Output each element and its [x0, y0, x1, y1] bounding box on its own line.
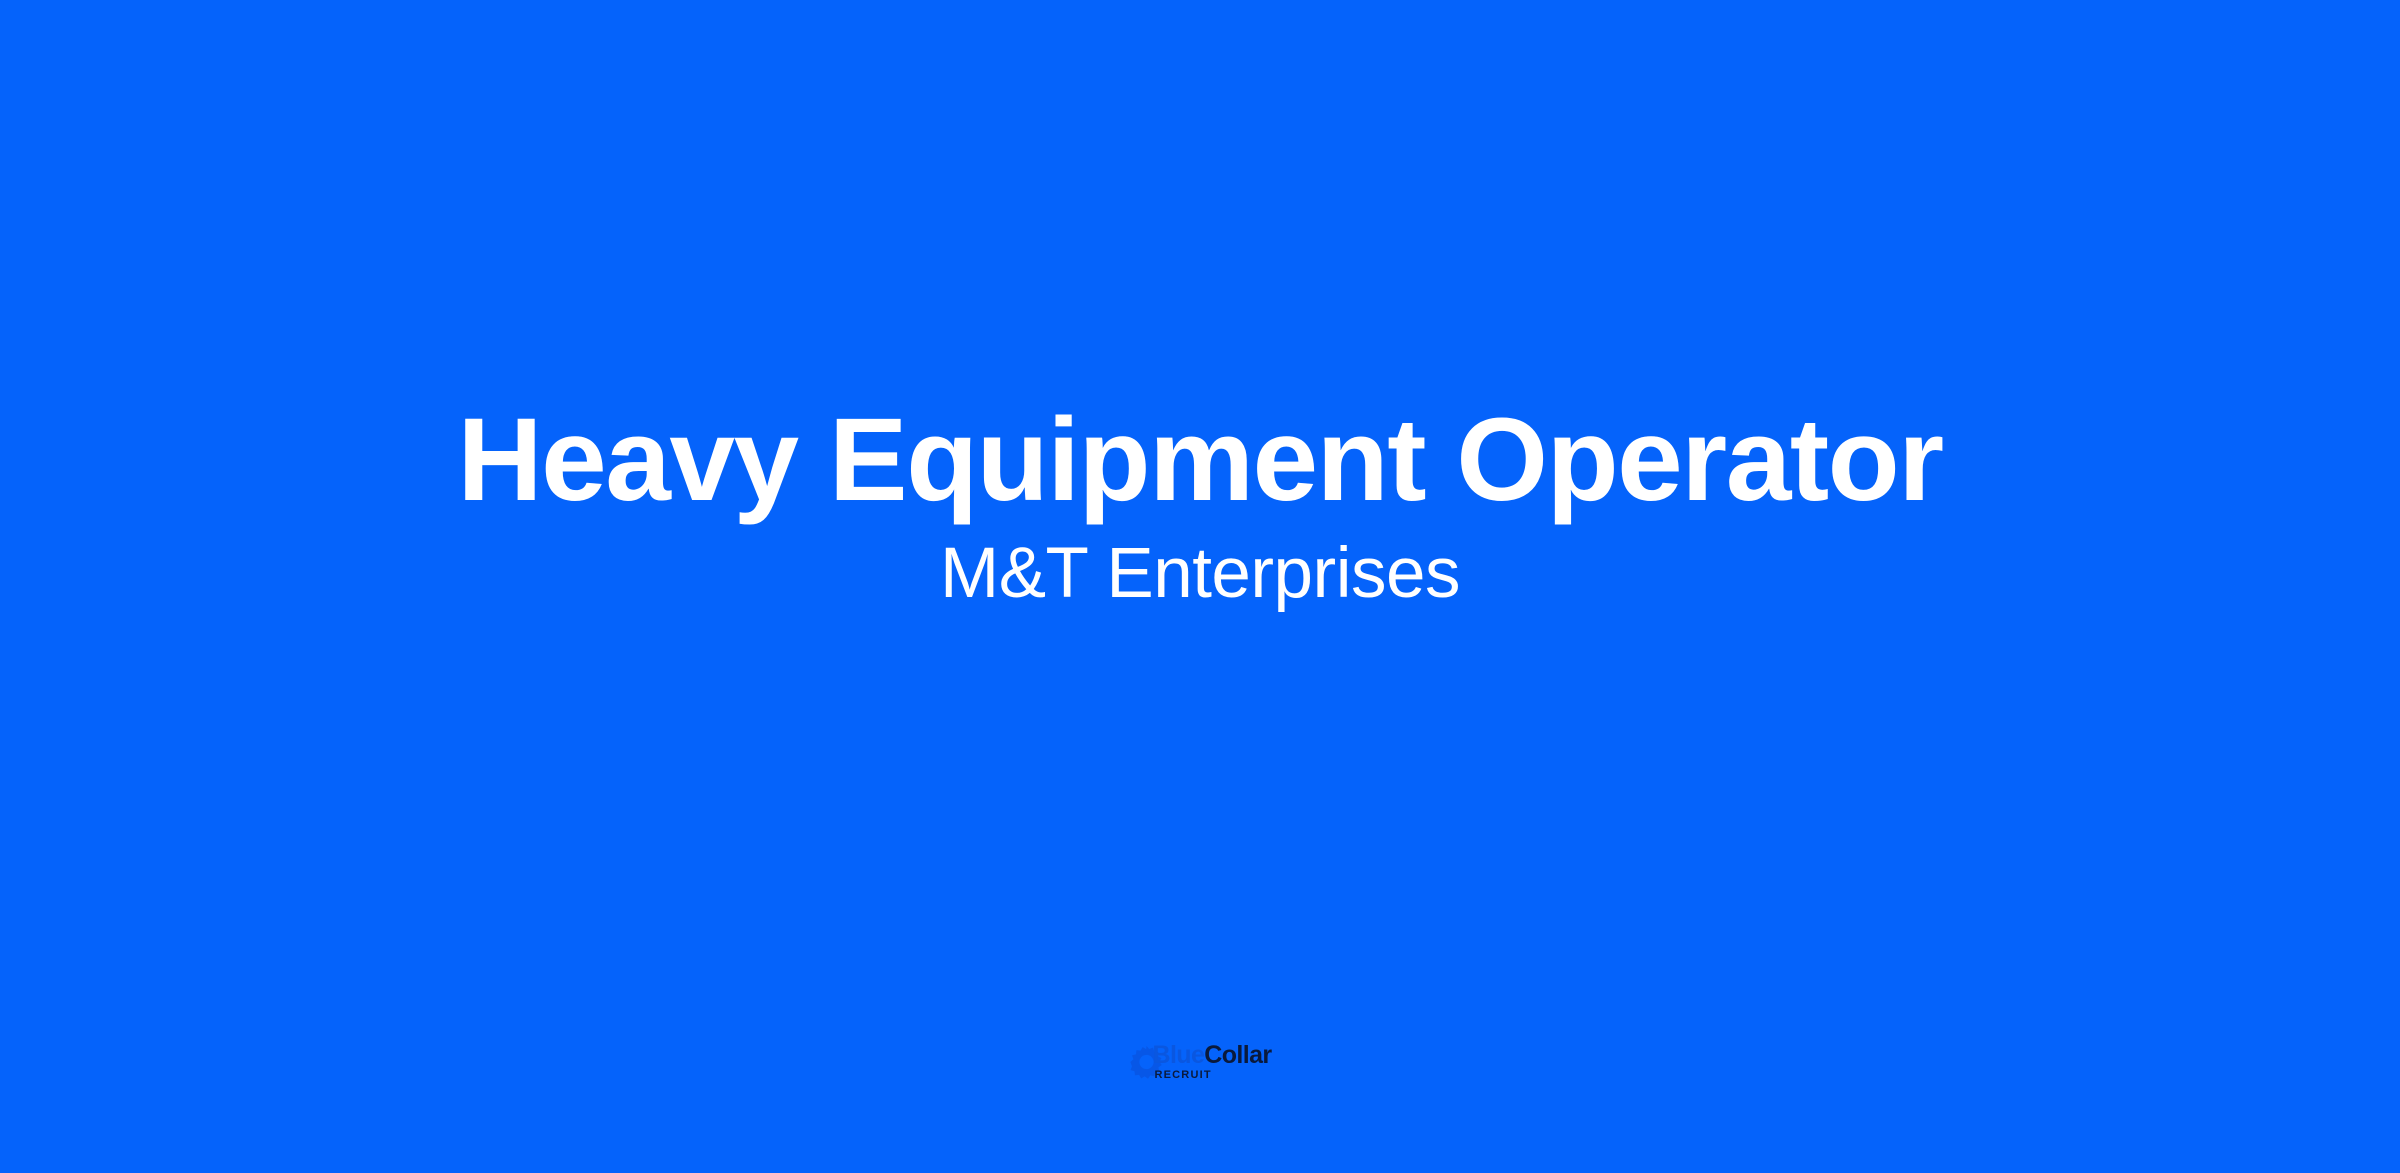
headline-block: Heavy Equipment Operator M&T Enterprises — [0, 0, 2400, 1173]
job-posting-slide: Heavy Equipment Operator M&T Enterprises… — [0, 0, 2400, 1173]
brand-wordmark: Blue Collar RECRUIT — [1152, 1043, 1271, 1081]
brand-word-collar: Collar — [1204, 1043, 1271, 1068]
company-name: M&T Enterprises — [940, 535, 1460, 613]
brand-logo: Blue Collar RECRUIT — [1128, 1040, 1271, 1084]
brand-wordmark-main: Blue Collar — [1152, 1043, 1271, 1068]
brand-word-blue: Blue — [1152, 1043, 1204, 1068]
brand-word-recruit: RECRUIT — [1154, 1070, 1211, 1081]
page-title: Heavy Equipment Operator — [457, 398, 1942, 523]
